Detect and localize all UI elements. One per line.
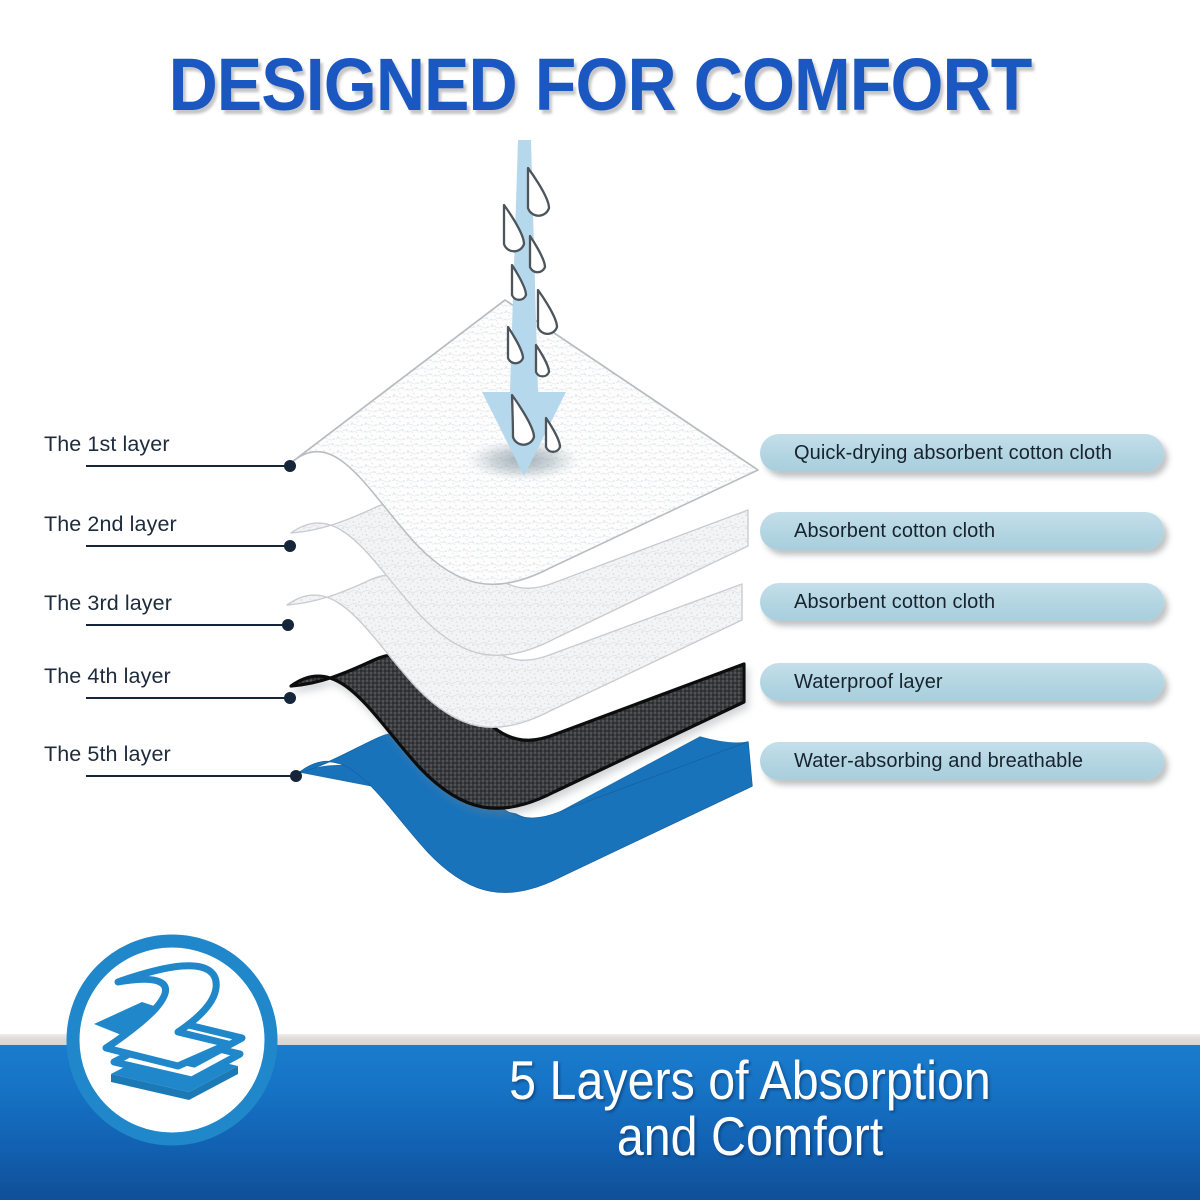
left-label-layer-5: The 5th layer	[44, 742, 171, 767]
right-pill-label-2: Absorbent cotton cloth	[760, 520, 995, 543]
left-label-layer-2: The 2nd layer	[44, 512, 177, 537]
right-pill-label-3: Absorbent cotton cloth	[760, 591, 995, 614]
right-pill-layer-2: Absorbent cotton cloth	[760, 512, 1164, 550]
footer-banner-line-1: 5 Layers of Absorption	[509, 1049, 991, 1111]
left-connector-dots	[282, 460, 302, 782]
left-label-layer-3: The 3rd layer	[44, 591, 172, 616]
right-pill-label-4: Waterproof layer	[760, 671, 943, 694]
right-pill-layer-5: Water-absorbing and breathable	[760, 742, 1164, 780]
layer-stack-badge	[56, 924, 288, 1156]
right-pill-layer-4: Waterproof layer	[760, 663, 1164, 701]
right-pill-layer-3: Absorbent cotton cloth	[760, 583, 1164, 621]
footer-banner-line-2: and Comfort	[354, 1108, 1146, 1164]
footer-banner-text: 5 Layers of Absorption and Comfort	[354, 1052, 1146, 1164]
left-label-layer-1: The 1st layer	[44, 432, 170, 457]
right-pill-layer-1: Quick-drying absorbent cotton cloth	[760, 434, 1164, 472]
right-pill-label-1: Quick-drying absorbent cotton cloth	[760, 442, 1112, 465]
left-label-layer-4: The 4th layer	[44, 664, 171, 689]
right-pill-label-5: Water-absorbing and breathable	[760, 750, 1083, 773]
infographic-canvas: DESIGNED FOR COMFORT	[0, 0, 1200, 1200]
